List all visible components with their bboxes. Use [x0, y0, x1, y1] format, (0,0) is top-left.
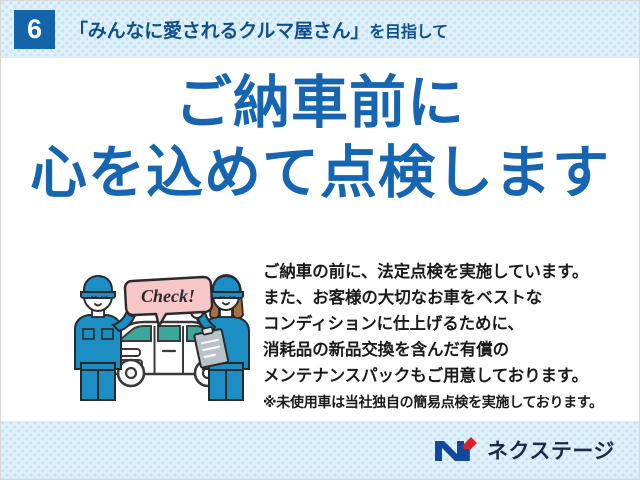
mechanics-illustration: Check!	[63, 269, 263, 404]
body-footnote: ※未使用車は当社独自の簡易点検を実施しております。	[263, 391, 635, 413]
body-copy: ご納車の前に、法定点検を実施しています。 また、お客様の大切なお車をベストな コ…	[263, 259, 635, 413]
nexstage-n-logo-icon	[433, 435, 479, 465]
header-title-rest: を目指して	[369, 24, 448, 41]
footer-band: ネクステージ	[1, 421, 639, 479]
footer-content: ネクステージ	[1, 421, 639, 479]
brand-logo: ネクステージ	[433, 435, 615, 465]
page-title: ご納車前に 心を込めて点検します	[1, 73, 639, 204]
header-title-quoted: 「みんなに愛されるクルマ屋さん」	[69, 21, 369, 42]
body-line-3: コンディションに仕上げるために、	[263, 311, 635, 337]
headline-line-2: 心を込めて点検します	[1, 143, 639, 203]
header-band: 6 「みんなに愛されるクルマ屋さん」を目指して	[1, 1, 639, 58]
header-content: 6 「みんなに愛されるクルマ屋さん」を目指して	[1, 1, 639, 58]
check-bubble-label: Check!	[141, 286, 195, 306]
header-title: 「みんなに愛されるクルマ屋さん」を目指して	[69, 16, 448, 43]
body-line-5: メンテナンスパックもご用意しております。	[263, 363, 635, 389]
body-line-2: また、お客様の大切なお車をベストな	[263, 285, 635, 311]
brand-name: ネクステージ	[487, 435, 615, 465]
advertisement-poster: 6 「みんなに愛されるクルマ屋さん」を目指して ご納車前に 心を込めて点検します	[0, 0, 640, 480]
headline-line-1: ご納車前に	[1, 73, 639, 133]
body-line-1: ご納車の前に、法定点検を実施しています。	[263, 259, 635, 285]
section-number-badge: 6	[14, 10, 55, 49]
body-line-4: 消耗品の新品交換を含んだ有償の	[263, 337, 635, 363]
